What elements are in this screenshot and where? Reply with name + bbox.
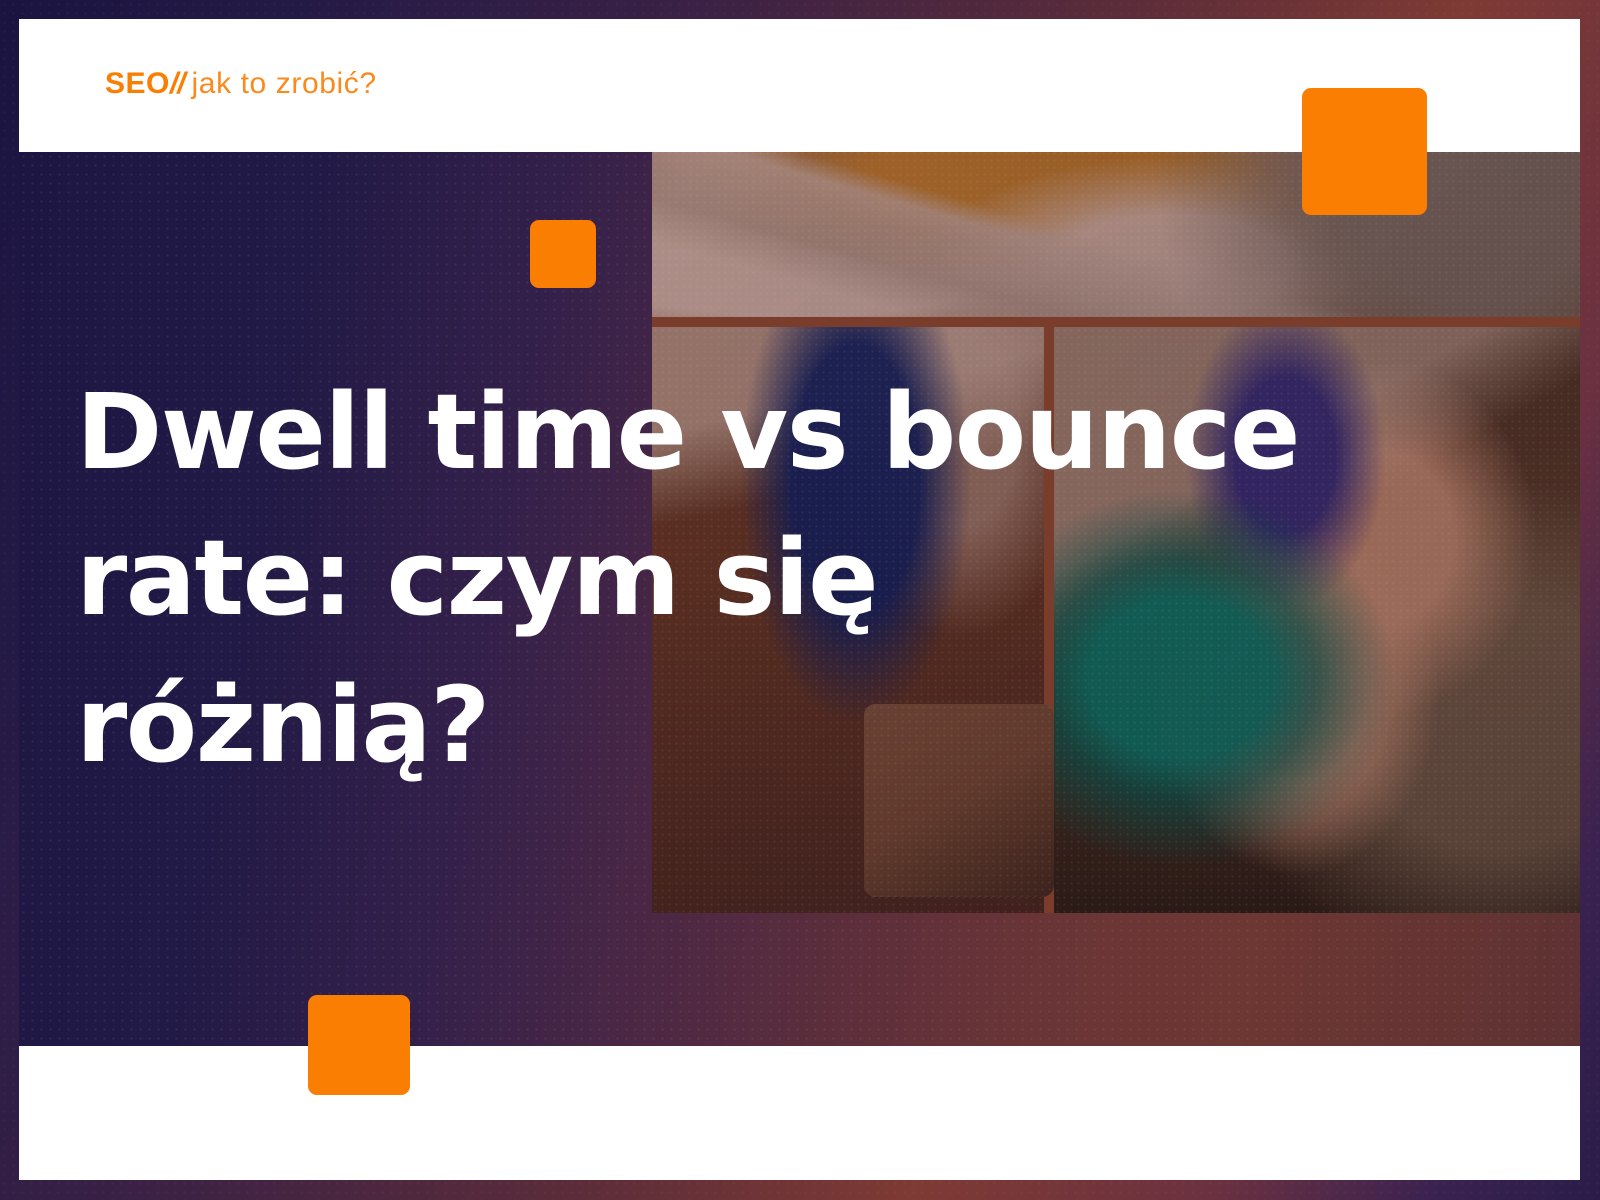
brand-tagline: jak to zrobić?: [192, 67, 377, 100]
orange-square-middle-left: [530, 220, 596, 288]
brand-slashes-icon: //: [170, 67, 185, 100]
brand-mark-text: SEO: [105, 67, 170, 100]
slide-canvas: Dwell time vs bounce rate: czym się różn…: [0, 0, 1600, 1200]
orange-square-top-right: [1302, 88, 1427, 215]
brand-logo[interactable]: SEO//jak to zrobić?: [105, 69, 377, 99]
slide-inner: Dwell time vs bounce rate: czym się różn…: [19, 19, 1580, 1180]
orange-square-bottom-left: [308, 995, 410, 1095]
page-title-line-2: rate: czym się: [76, 505, 1336, 652]
page-title-line-1: Dwell time vs bounce: [76, 359, 1336, 506]
page-title: Dwell time vs bounce rate: czym się różn…: [76, 359, 1336, 799]
page-title-line-3: różnią?: [76, 652, 1336, 799]
bottom-white-band: [19, 1046, 1580, 1180]
